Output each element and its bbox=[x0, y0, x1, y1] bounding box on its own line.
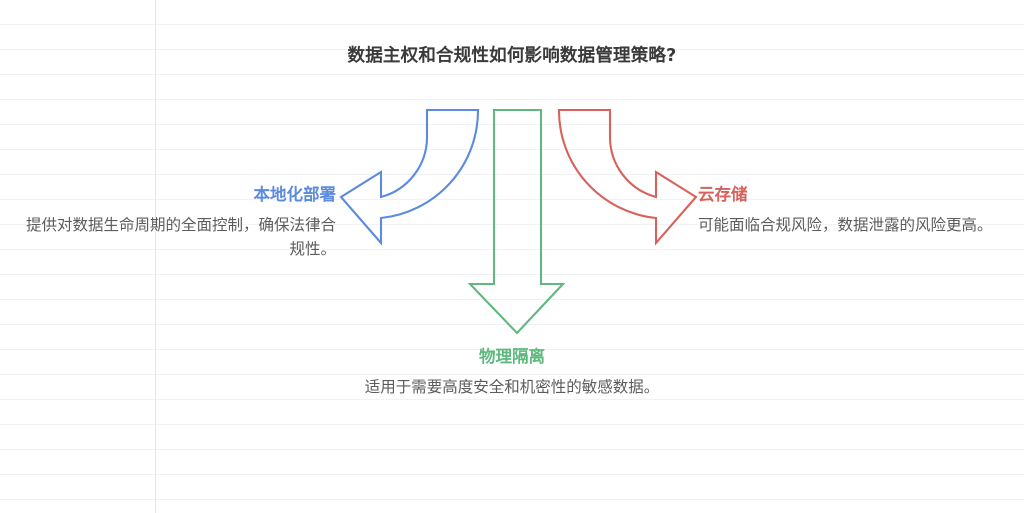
branch-description-on-premise: 提供对数据生命周期的全面控制，确保法律合规性。 bbox=[18, 214, 336, 261]
branch-label-on-premise: 本地化部署 bbox=[18, 184, 336, 205]
branch-cloud-storage: 云存储 可能面临合规风险，数据泄露的风险更高。 bbox=[698, 184, 1008, 238]
diagram-canvas: 数据主权和合规性如何影响数据管理策略? 本地化部署 提供对数据生命周期的全面控制… bbox=[0, 0, 1024, 513]
branch-label-physical-isolation: 物理隔离 bbox=[322, 346, 702, 367]
branch-description-physical-isolation: 适用于需要高度安全和机密性的敏感数据。 bbox=[322, 376, 702, 400]
branch-label-cloud-storage: 云存储 bbox=[698, 184, 1008, 205]
arrow-down-icon bbox=[470, 110, 563, 333]
curved-arrow-left-icon bbox=[341, 110, 478, 243]
branch-on-premise: 本地化部署 提供对数据生命周期的全面控制，确保法律合规性。 bbox=[18, 184, 336, 262]
branch-physical-isolation: 物理隔离 适用于需要高度安全和机密性的敏感数据。 bbox=[322, 346, 702, 400]
branch-description-cloud-storage: 可能面临合规风险，数据泄露的风险更高。 bbox=[698, 214, 1008, 238]
curved-arrow-right-icon bbox=[559, 110, 696, 243]
